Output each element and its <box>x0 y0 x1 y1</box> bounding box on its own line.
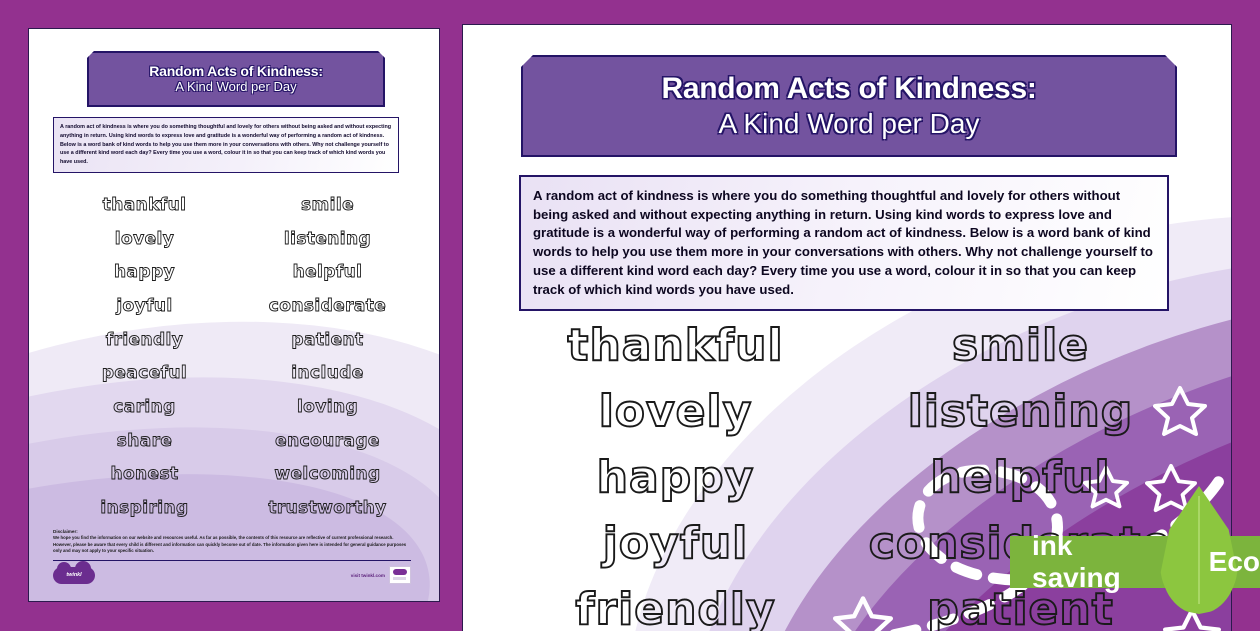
word-item[interactable]: lovely <box>503 379 848 445</box>
word-item[interactable]: loving <box>236 391 419 425</box>
disclaimer-body: We hope you find the information on our … <box>53 535 411 555</box>
eco-badge-secondary-label: Eco <box>1209 546 1260 578</box>
preview-intro-paragraph: A random act of kindness is where you do… <box>519 175 1169 311</box>
visit-link[interactable]: visit twinkl.com <box>351 566 411 584</box>
word-item[interactable]: caring <box>53 391 236 425</box>
word-item[interactable]: friendly <box>503 577 848 631</box>
word-item[interactable]: share <box>53 425 236 459</box>
word-item[interactable]: patient <box>236 324 419 358</box>
disclaimer-title: Disclaimer: <box>53 529 411 534</box>
word-item[interactable]: listening <box>236 223 419 257</box>
eco-badge-primary-label: ink saving <box>1032 530 1165 594</box>
word-item[interactable]: helpful <box>236 256 419 290</box>
word-item[interactable]: happy <box>53 256 236 290</box>
word-item[interactable]: smile <box>848 313 1193 379</box>
word-item[interactable]: welcoming <box>236 458 419 492</box>
thumbnail-title-banner: Random Acts of Kindness: A Kind Word per… <box>87 51 385 107</box>
word-item[interactable]: lovely <box>53 223 236 257</box>
thumbnail-footer: Disclaimer: We hope you find the informa… <box>53 529 411 585</box>
thumbnail-title-line1: Random Acts of Kindness: <box>149 64 323 80</box>
thumbnail-word-column-right: smile listening helpful considerate pati… <box>236 189 419 526</box>
word-item[interactable]: friendly <box>53 324 236 358</box>
word-item[interactable]: encourage <box>236 425 419 459</box>
thumbnail-intro-paragraph: A random act of kindness is where you do… <box>53 117 399 173</box>
footer-divider <box>53 560 411 561</box>
word-item[interactable]: helpful <box>848 445 1193 511</box>
thumbnail-title-line2: A Kind Word per Day <box>175 80 296 95</box>
word-item[interactable]: thankful <box>503 313 848 379</box>
twinkl-card-icon <box>389 566 411 584</box>
word-item[interactable]: trustworthy <box>236 492 419 526</box>
twinkl-logo-text: twinkl <box>66 572 81 578</box>
word-item[interactable]: considerate <box>236 290 419 324</box>
word-item[interactable]: listening <box>848 379 1193 445</box>
thumbnail-word-column-left: thankful lovely happy joyful friendly pe… <box>53 189 236 526</box>
twinkl-logo: twinkl <box>53 567 95 584</box>
word-item[interactable]: peaceful <box>53 357 236 391</box>
word-item[interactable]: happy <box>503 445 848 511</box>
preview-title-banner: Random Acts of Kindness: A Kind Word per… <box>521 55 1177 157</box>
preview-title-line2: A Kind Word per Day <box>719 108 980 140</box>
ink-saving-eco-badge: ink saving Eco <box>1010 536 1260 588</box>
word-item[interactable]: thankful <box>53 189 236 223</box>
word-item[interactable]: include <box>236 357 419 391</box>
word-item[interactable]: honest <box>53 458 236 492</box>
word-item[interactable]: inspiring <box>53 492 236 526</box>
word-item[interactable]: joyful <box>503 511 848 577</box>
preview-word-column-left: thankful lovely happy joyful friendly <box>503 313 848 631</box>
preview-title-line1: Random Acts of Kindness: <box>661 72 1036 106</box>
thumbnail-word-bank: thankful lovely happy joyful friendly pe… <box>53 189 419 526</box>
visit-link-text: visit twinkl.com <box>351 573 385 578</box>
word-item[interactable]: joyful <box>53 290 236 324</box>
resource-thumbnail-page[interactable]: Random Acts of Kindness: A Kind Word per… <box>28 28 440 602</box>
word-item[interactable]: smile <box>236 189 419 223</box>
